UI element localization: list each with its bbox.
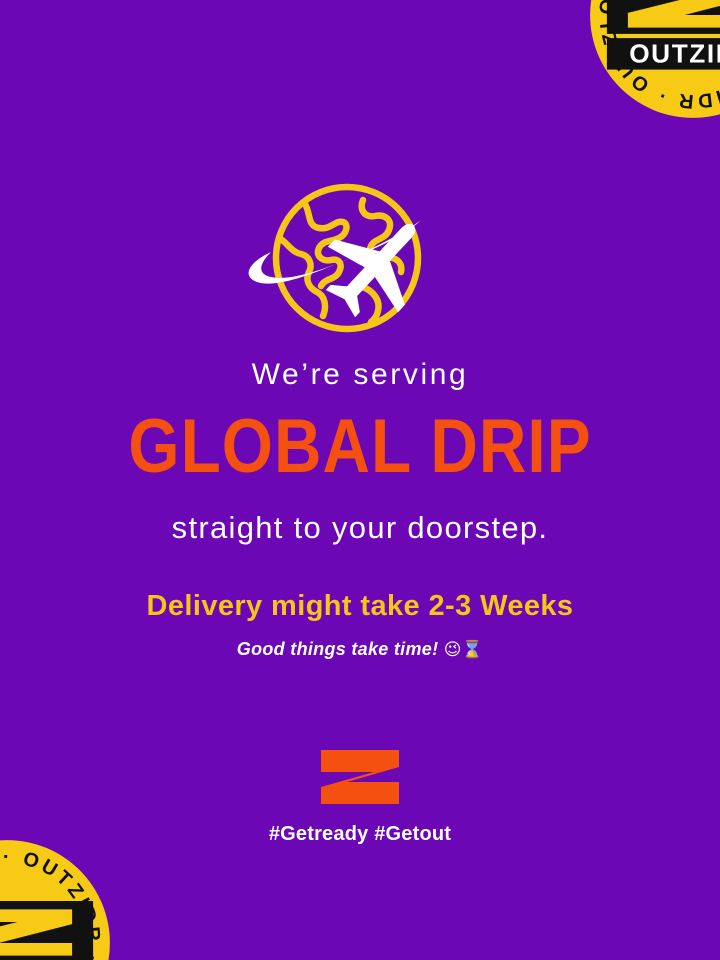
globe-with-airplane-icon <box>235 176 485 344</box>
tagline-text: Good things take time! <box>237 639 439 659</box>
footer-block: #Getready #Getout <box>0 748 720 846</box>
tagline: Good things take time! 😉⌛ <box>0 640 720 659</box>
outzidr-badge-top-right: OUTZIDR · OUTZIDR · OUTZIDR · OUTZIDR · … <box>588 0 720 120</box>
subhead-text: straight to your doorstep. <box>0 512 720 543</box>
outzidr-badge-bottom-left: OUTZIDR · OUTZIDR · OUTZIDR · OUTZIDR · … <box>0 838 112 960</box>
wink-hourglass-emoji: 😉⌛ <box>444 640 484 660</box>
copy-block: We’re serving GLOBAL DRIP straight to yo… <box>0 360 720 659</box>
page-title: GLOBAL DRIP <box>0 410 720 486</box>
brand-z-logo <box>319 748 401 806</box>
badge-wordmark: OUTZIDR <box>629 38 720 68</box>
delivery-notice: Delivery might take 2-3 Weeks <box>0 592 720 621</box>
eyebrow-text: We’re serving <box>0 360 720 390</box>
poster-canvas: We’re serving GLOBAL DRIP straight to yo… <box>0 0 720 960</box>
